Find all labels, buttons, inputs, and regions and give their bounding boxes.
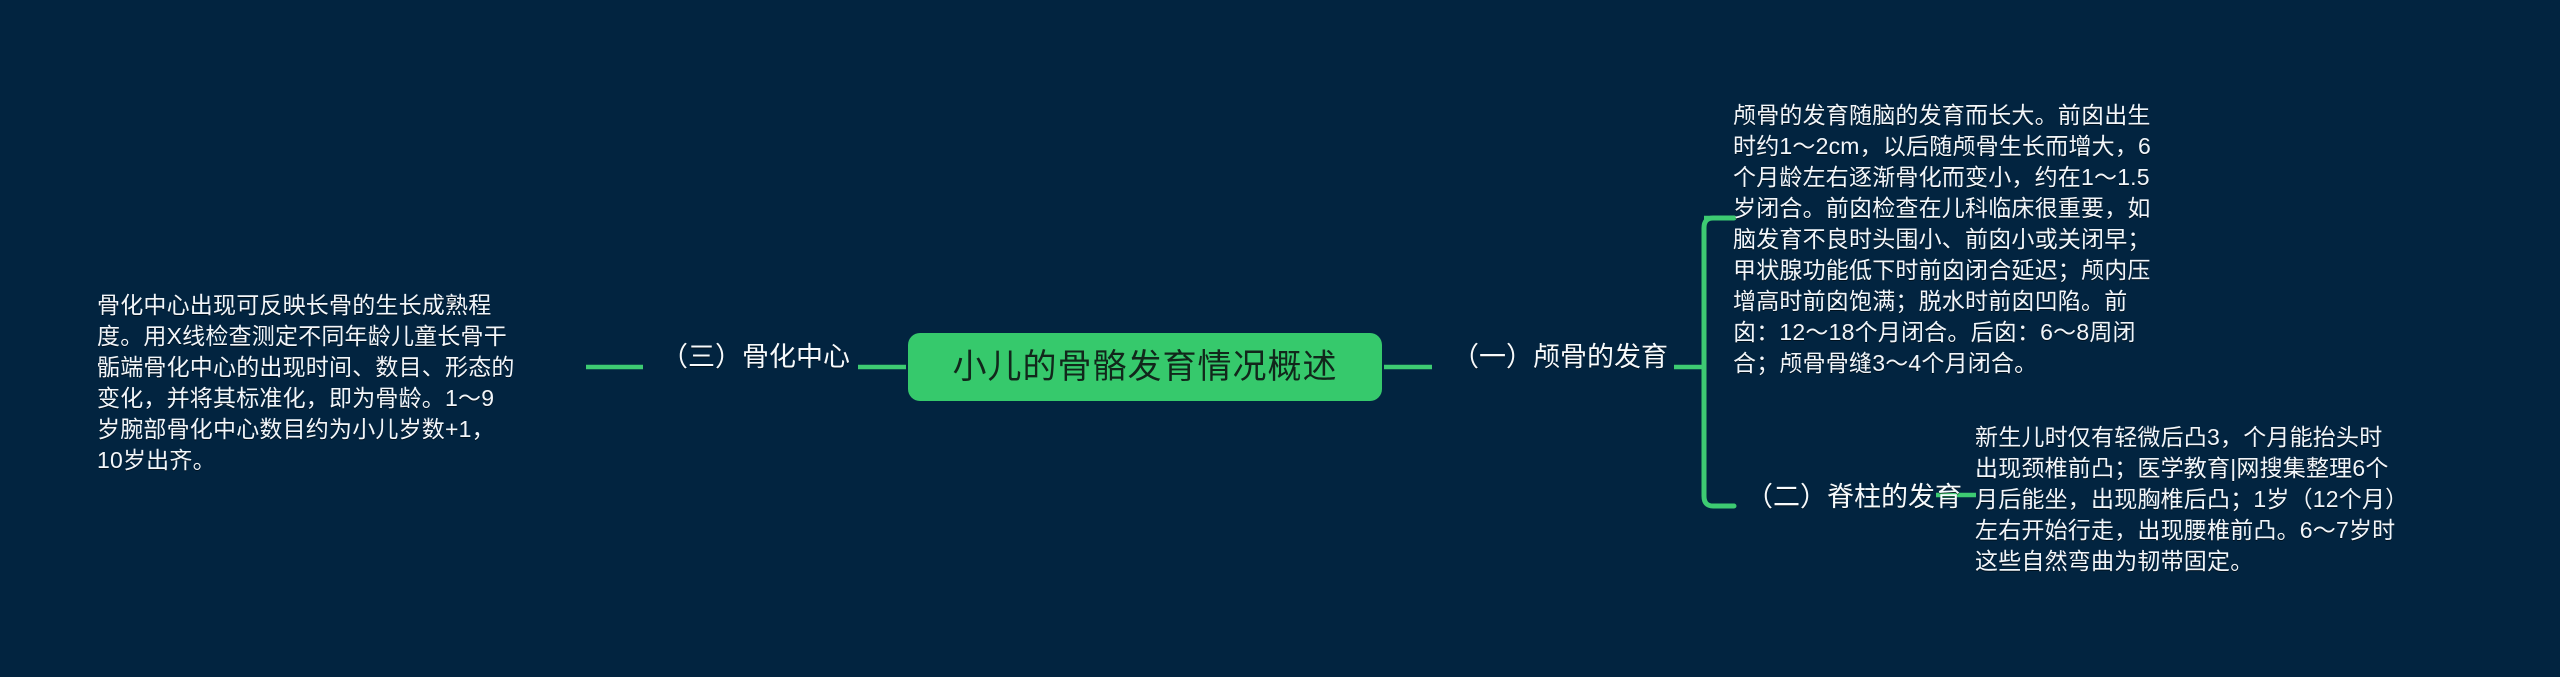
detail-skull-development: 颅骨的发育随脑的发育而长大。前囟出生时约1～2cm，以后随颅骨生长而增大，6个月… [1733, 100, 2163, 379]
detail-ossification-center: 骨化中心出现可反映长骨的生长成熟程度。用X线检查测定不同年龄儿童长骨干骺端骨化中… [97, 290, 517, 476]
branch-label-spine-development[interactable]: （二）脊柱的发育 [1746, 480, 1962, 514]
branch-label-ossification-center[interactable]: （三）骨化中心 [661, 340, 850, 374]
mindmap-canvas: 小儿的骨骼发育情况概述 骨化中心出现可反映长骨的生长成熟程度。用X线检查测定不同… [0, 0, 2560, 677]
detail-spine-development: 新生儿时仅有轻微后凸3，个月能抬头时出现颈椎前凸；医学教育|网搜集整理6个月后能… [1975, 422, 2405, 577]
connector-right-trunk [1704, 218, 1734, 506]
root-node-title: 小儿的骨骼发育情况概述 [953, 347, 1338, 387]
root-node[interactable]: 小儿的骨骼发育情况概述 [908, 333, 1382, 401]
branch-label-skull-development[interactable]: （一）颅骨的发育 [1452, 340, 1668, 374]
